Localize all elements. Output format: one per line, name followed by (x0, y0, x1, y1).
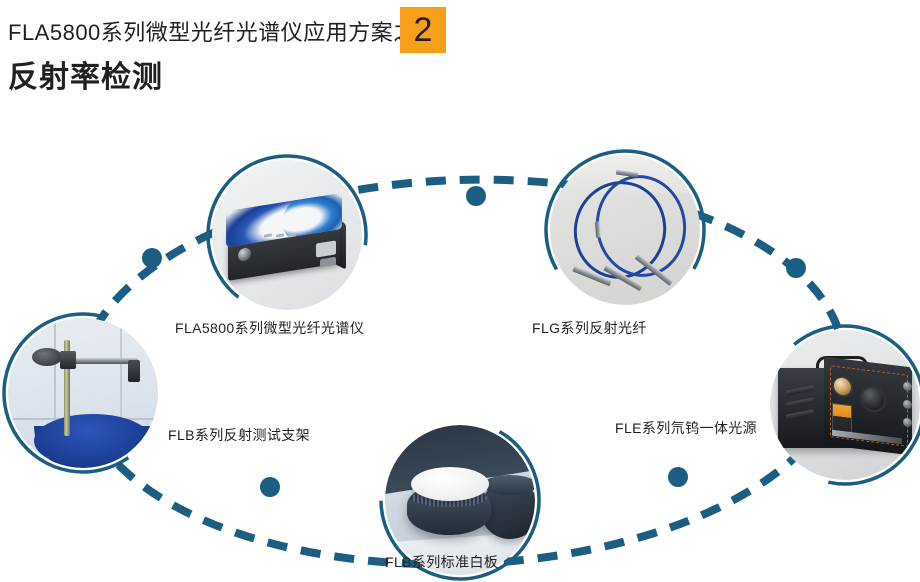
caption-light-source: FLE系列氘钨一体光源 (615, 418, 757, 438)
fiber-sleeve-mid (595, 221, 601, 237)
photo-inner (770, 330, 920, 480)
wall-edge-b (120, 318, 122, 418)
indicator-button-c (903, 417, 912, 427)
connector-dot-3 (786, 258, 806, 278)
product-photo-light-source[interactable] (770, 330, 920, 480)
caption-white-plate: FLB系列标准白板 (385, 552, 498, 572)
photo-inner (212, 160, 362, 310)
caption-spectrometer: FLA5800系列微型光纤光谱仪 (175, 318, 364, 338)
fiber-backdrop-left (550, 155, 576, 305)
wall-edge-a (54, 318, 56, 426)
photo-inner (8, 318, 158, 468)
connector-dot-5 (260, 477, 280, 497)
stand-probe-holder (128, 360, 140, 382)
product-photo-spectrometer[interactable] (212, 160, 362, 310)
uv-warning-label (832, 403, 852, 433)
white-reflectance-disc (411, 467, 489, 501)
stand-base-plate (34, 414, 152, 468)
indicator-button-a (903, 381, 912, 391)
stand-counterweight-disc (32, 348, 62, 366)
indicator-button-b (903, 399, 912, 409)
product-photo-fiber[interactable] (550, 155, 700, 305)
caption-fiber: FLG系列反射光纤 (532, 318, 647, 338)
connector-dot-4 (668, 467, 688, 487)
product-photo-test-stand[interactable] (8, 318, 158, 468)
connector-dot-2 (466, 186, 486, 206)
stand-clamp (60, 351, 76, 369)
photo-inner (550, 155, 700, 305)
connector-dot-1 (142, 248, 162, 268)
caption-test-stand: FLB系列反射测试支架 (168, 425, 310, 445)
solution-diagram: FLA5800系列微型光纤光谱仪 FLG系列反射光纤 FLE系列氘钨一体光源 F… (0, 0, 920, 582)
plate-case-lid-rim (483, 475, 535, 495)
